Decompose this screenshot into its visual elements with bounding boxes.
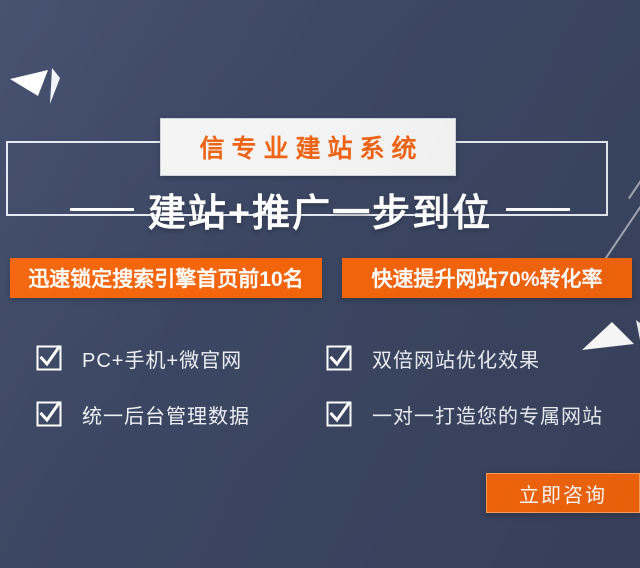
tagline-right-label: 快速提升网站70%转化率 — [371, 263, 602, 293]
page-title: 建站+推广一步到位 — [148, 182, 492, 237]
consult-now-label: 立即咨询 — [519, 479, 607, 508]
tagline-left-label: 迅速锁定搜索引擎首页前10名 — [28, 263, 303, 293]
tagline-bar-right: 快速提升网站70%转化率 — [342, 258, 632, 298]
feature-item-unified-backend: 统一后台管理数据 — [36, 400, 326, 429]
consult-now-button[interactable]: 立即咨询 — [486, 473, 640, 513]
badge: 信专业建站系统 — [160, 118, 456, 176]
feature-label: 一对一打造您的专属网站 — [372, 400, 603, 429]
tagline-bar-left: 迅速锁定搜索引擎首页前10名 — [10, 258, 322, 298]
feature-item-one-on-one: 一对一打造您的专属网站 — [326, 400, 640, 429]
headline-dash-left — [70, 208, 134, 211]
paper-plane-top-left-icon — [8, 60, 68, 108]
feature-item-pc-mobile-wechat: PC+手机+微官网 — [36, 344, 326, 373]
feature-label: 双倍网站优化效果 — [372, 344, 540, 373]
badge-label: 信专业建站系统 — [192, 129, 423, 165]
checkbox-checked-icon — [36, 345, 62, 371]
feature-row: PC+手机+微官网 双倍网站优化效果 — [36, 330, 640, 386]
promo-banner: 信专业建站系统 建站+推广一步到位 迅速锁定搜索引擎首页前10名 快速提升网站7… — [0, 0, 640, 568]
feature-row: 统一后台管理数据 一对一打造您的专属网站 — [36, 386, 640, 442]
checkbox-checked-icon — [326, 401, 352, 427]
feature-list: PC+手机+微官网 双倍网站优化效果 统一后台管理数据 — [36, 330, 640, 442]
checkbox-checked-icon — [326, 345, 352, 371]
checkbox-checked-icon — [36, 401, 62, 427]
feature-label: PC+手机+微官网 — [82, 344, 242, 373]
feature-label: 统一后台管理数据 — [82, 400, 250, 429]
headline-row: 建站+推广一步到位 — [0, 182, 640, 236]
headline-dash-right — [506, 208, 570, 211]
feature-item-double-seo: 双倍网站优化效果 — [326, 344, 640, 373]
